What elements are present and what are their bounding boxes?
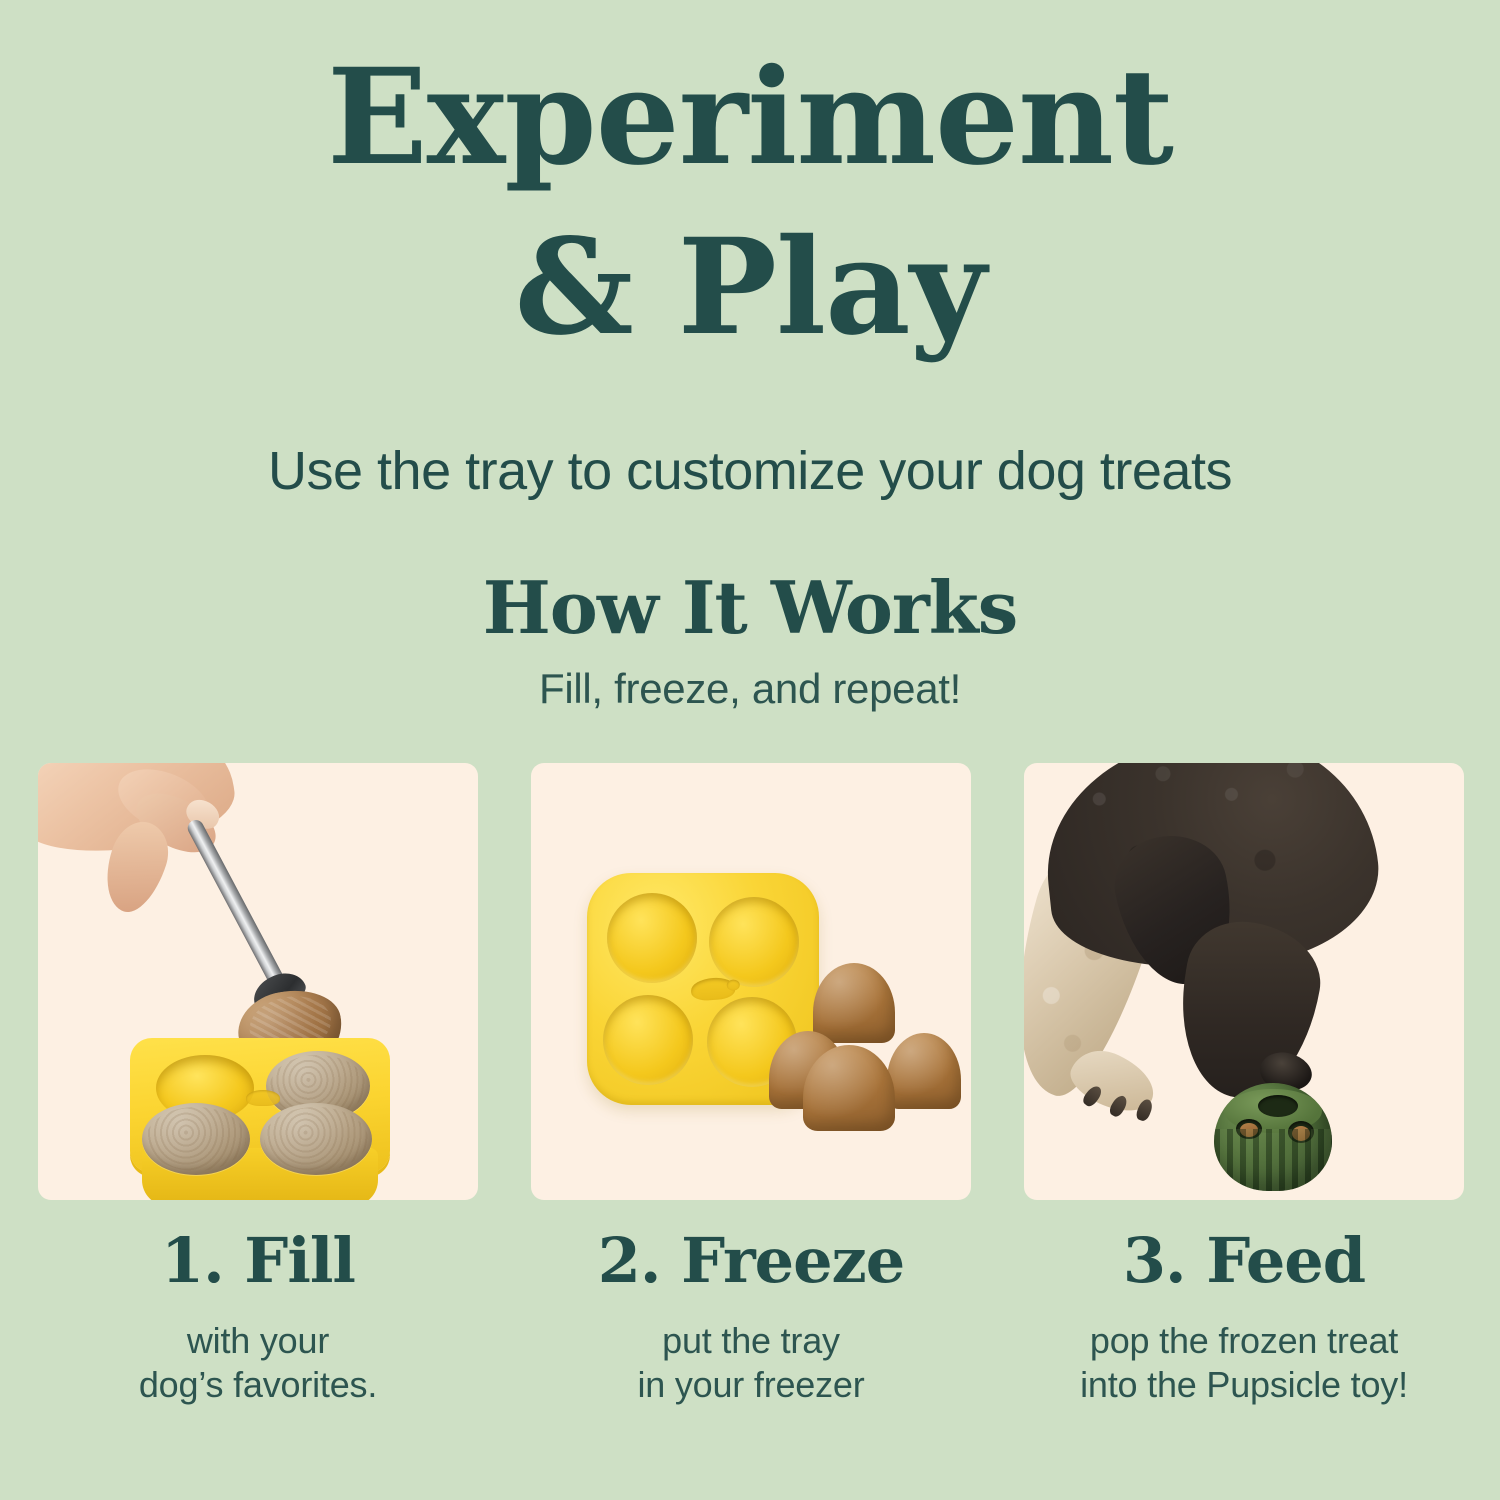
step-caption-fill: 1. Fill with your dog’s favorites.: [38, 1228, 478, 1407]
section-subtitle: Fill, freeze, and repeat!: [0, 665, 1500, 713]
steps-image-row: [38, 763, 1463, 1200]
step-title: 2. Freeze: [531, 1228, 971, 1293]
step-image-feed: [1024, 763, 1464, 1200]
step-image-fill: [38, 763, 478, 1200]
step-description: with your dog’s favorites.: [38, 1319, 478, 1407]
step-image-freeze: [531, 763, 971, 1200]
step-description: put the tray in your freezer: [531, 1319, 971, 1407]
step-title: 1. Fill: [38, 1228, 478, 1293]
step-title: 3. Feed: [1024, 1228, 1464, 1293]
toy-ribs: [1214, 1129, 1332, 1191]
headline-line-1: Experiment: [0, 52, 1500, 184]
step-description: pop the frozen treat into the Pupsicle t…: [1024, 1319, 1464, 1407]
subheadline: Use the tray to customize your dog treat…: [0, 440, 1500, 502]
tray-cavity-filled: [260, 1103, 372, 1175]
step-caption-feed: 3. Feed pop the frozen treat into the Pu…: [1024, 1228, 1464, 1407]
tray-cavity: [603, 995, 693, 1085]
frozen-treat: [813, 963, 895, 1043]
steps-caption-row: 1. Fill with your dog’s favorites. 2. Fr…: [38, 1228, 1463, 1407]
section-title: How It Works: [0, 565, 1500, 650]
tray-cavity: [607, 893, 697, 983]
step-caption-freeze: 2. Freeze put the tray in your freezer: [531, 1228, 971, 1407]
tray-cavity-filled: [142, 1103, 250, 1175]
toy-hole: [1258, 1095, 1298, 1117]
pupsicle-toy: [1214, 1083, 1332, 1191]
spoon-handle-icon: [185, 817, 288, 992]
frozen-treat: [887, 1033, 961, 1109]
dog-head-emboss-icon: [246, 1090, 280, 1106]
headline-line-2: & Play: [0, 222, 1500, 354]
tray-cavity: [709, 897, 799, 987]
